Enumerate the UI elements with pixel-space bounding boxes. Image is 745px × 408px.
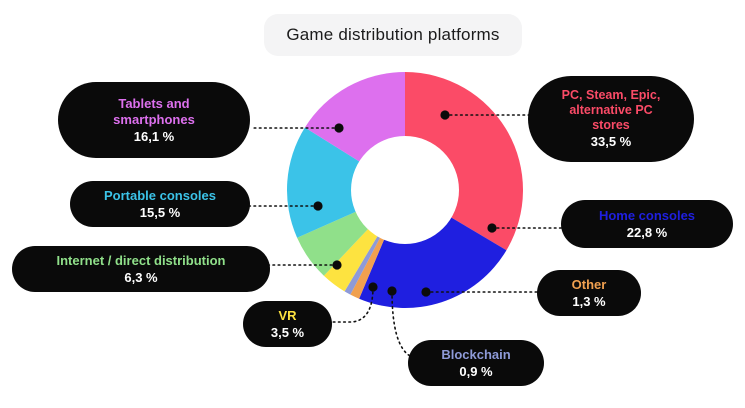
callout-value: 3,5 %	[271, 325, 304, 341]
callout-label: Tablets and smartphones	[113, 96, 195, 128]
callout-label: PC, Steam, Epic, alternative PC stores	[562, 88, 661, 133]
callout-label: VR	[278, 308, 296, 324]
callout-value: 16,1 %	[134, 129, 174, 145]
donut-hole	[351, 136, 459, 244]
callout-portable-consoles[interactable]: Portable consoles 15,5 %	[70, 181, 250, 227]
callout-other[interactable]: Other 1,3 %	[537, 270, 641, 316]
callout-blockchain[interactable]: Blockchain 0,9 %	[408, 340, 544, 386]
callout-value: 1,3 %	[572, 294, 605, 310]
callout-label: Blockchain	[441, 347, 510, 363]
callout-internet-direct-distribution[interactable]: Internet / direct distribution 6,3 %	[12, 246, 270, 292]
callout-label: Portable consoles	[104, 188, 216, 204]
callout-value: 0,9 %	[459, 364, 492, 380]
callout-value: 33,5 %	[591, 134, 631, 150]
donut-chart	[287, 72, 523, 308]
chart-canvas: Game distribution platforms	[0, 0, 745, 408]
callout-vr[interactable]: VR 3,5 %	[243, 301, 332, 347]
callout-value: 15,5 %	[140, 205, 180, 221]
donut-svg	[287, 72, 523, 308]
callout-label: Other	[572, 277, 607, 293]
page-title: Game distribution platforms	[286, 25, 499, 45]
callout-label: Home consoles	[599, 208, 695, 224]
callout-home-consoles[interactable]: Home consoles 22,8 %	[561, 200, 733, 248]
callout-value: 22,8 %	[627, 225, 667, 241]
chart-title-pill: Game distribution platforms	[264, 14, 522, 56]
callout-tablets-smartphones[interactable]: Tablets and smartphones 16,1 %	[58, 82, 250, 158]
callout-value: 6,3 %	[124, 270, 157, 286]
callout-label: Internet / direct distribution	[56, 253, 225, 269]
callout-pc-steam-epic[interactable]: PC, Steam, Epic, alternative PC stores 3…	[528, 76, 694, 162]
